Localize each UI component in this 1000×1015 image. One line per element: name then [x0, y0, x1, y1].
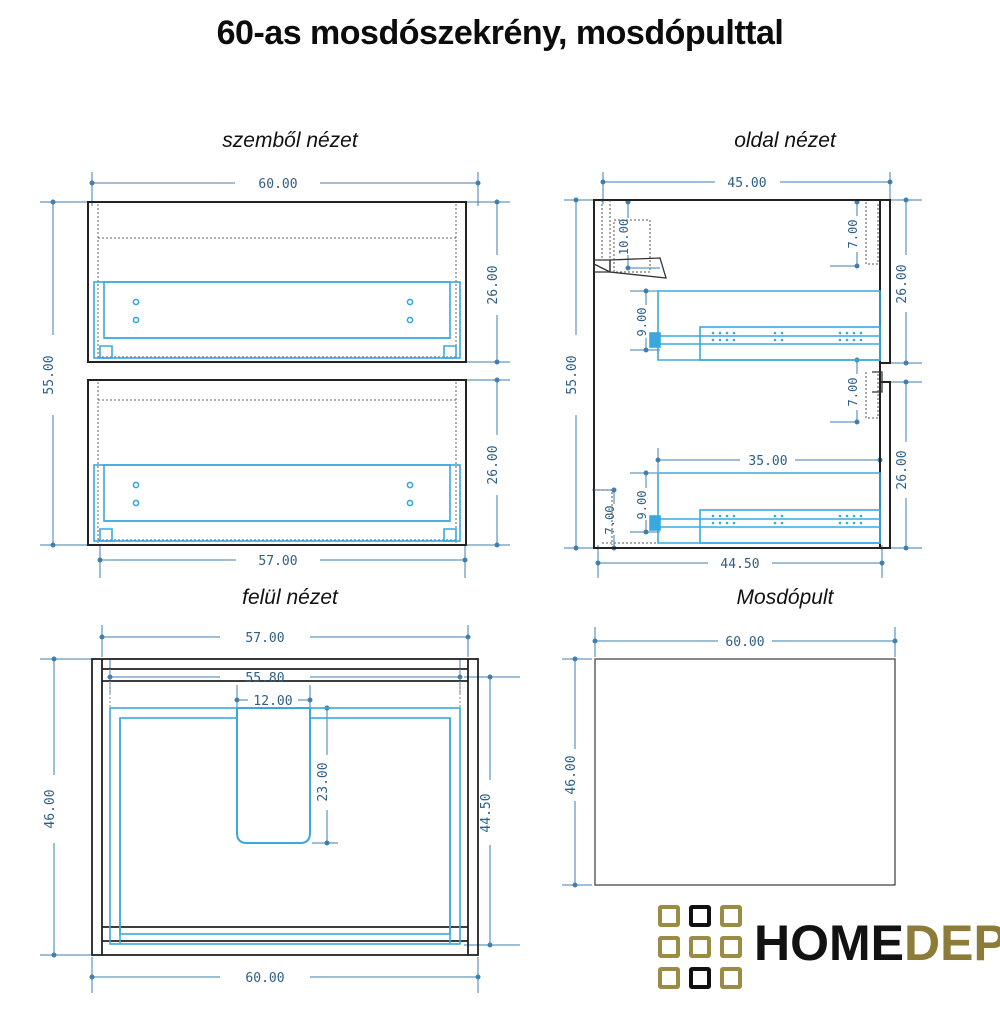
dim-top-depth-right: 44.50: [479, 793, 494, 832]
dim-top-depth-left: 46.00: [43, 789, 58, 828]
dim-side-slide-lower: 9.00: [635, 491, 649, 520]
view-title-top: felül nézet: [110, 586, 470, 610]
dim-top-cutout-depth: 23.00: [316, 762, 331, 801]
view-title-side: oldal nézet: [600, 129, 970, 153]
dim-front-width-top: 60.00: [258, 177, 297, 192]
page-title: 60-as mosdószekrény, mosdópulttal: [0, 14, 1000, 53]
dim-side-runner: 35.00: [748, 454, 787, 469]
side-drawer-upper: [650, 291, 880, 360]
logo-text-depo: DEPO: [904, 915, 1000, 971]
dim-side-upper: 26.00: [895, 264, 910, 303]
dim-front-drawer-lower: 26.00: [486, 445, 501, 484]
side-view-drawing: 45.00 44.50 55.00 26.00 26.00 10.00 7.00…: [550, 160, 1000, 580]
dim-top-width-overall: 60.00: [245, 971, 284, 986]
front-drawer-lower: [94, 465, 460, 541]
dim-side-inset-mid: 7.00: [846, 378, 860, 407]
view-title-counter: Mosdópult: [600, 586, 970, 610]
dim-side-depth-top: 45.00: [727, 176, 766, 191]
dim-top-width-inner: 55.80: [245, 671, 284, 686]
sink-cutout: [237, 708, 310, 843]
front-drawer-upper: [94, 282, 460, 358]
dim-top-width-carcass: 57.00: [245, 631, 284, 646]
counter-view-drawing: 60.00 46.00: [550, 615, 1000, 935]
dim-top-cutout-width: 12.00: [253, 694, 292, 709]
logo-grid-icon: [658, 905, 742, 989]
dim-side-bracket: 10.00: [617, 219, 631, 255]
dim-side-inset-top: 7.00: [846, 220, 860, 249]
logo-text-home: HOME: [754, 915, 904, 971]
side-drawer-lower: [650, 473, 880, 543]
drawing-page: 60-as mosdószekrény, mosdópulttal szembő…: [0, 0, 1000, 1000]
dim-side-height: 55.00: [565, 355, 580, 394]
dim-front-height: 55.00: [42, 355, 57, 394]
logo-wordmark: HOMEDEPO: [754, 917, 1000, 969]
dim-side-lower: 26.00: [895, 450, 910, 489]
dim-front-drawer-upper: 26.00: [486, 265, 501, 304]
dim-side-inset-bottom: 7.00: [603, 506, 617, 535]
dim-counter-width: 60.00: [725, 635, 764, 650]
view-title-front: szemből nézet: [110, 129, 470, 153]
dim-side-slide-upper: 9.00: [635, 308, 649, 337]
dim-front-width-bottom: 57.00: [258, 554, 297, 569]
homedepo-logo: HOMEDEPO: [658, 903, 988, 991]
dim-side-depth-bottom: 44.50: [720, 557, 759, 572]
counter-outline: [595, 659, 895, 885]
dim-counter-depth: 46.00: [564, 755, 579, 794]
front-view-drawing: 60.00 57.00 55.00 26.00 26.00: [20, 160, 540, 580]
top-view-drawing: 57.00 55.80 12.00 23.00 46.00 44.50 60.0…: [20, 615, 540, 1015]
